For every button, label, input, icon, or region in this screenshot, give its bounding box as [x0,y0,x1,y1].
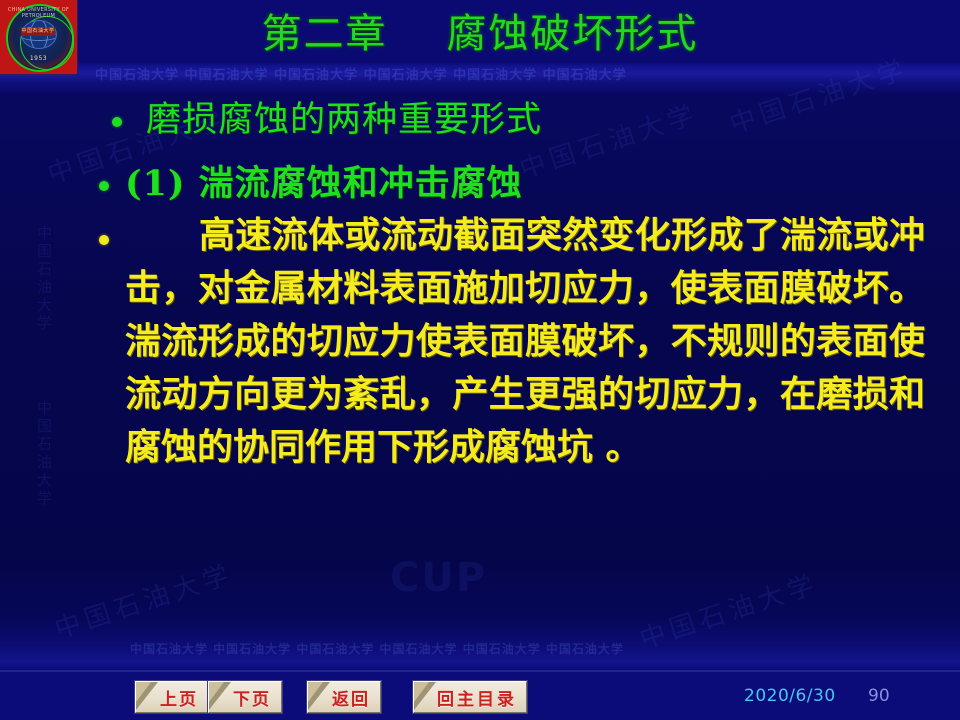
paragraph-3-text: 高速流体或流动截面突然变化形成了湍流或冲击，对金属材料表面施加切应力，使表面膜破… [125,209,925,474]
next-page-button-label: 下页 [209,682,281,712]
slide-page-number: 90 [868,686,890,706]
watermark-vertical-left-2: 中国石油大学 [34,400,55,508]
watermark-logo-text: CUP [390,555,487,601]
paragraph-1-text: 磨损腐蚀的两种重要形式 [146,95,542,145]
prev-page-button[interactable]: 上页 [135,681,209,713]
paragraph-2-text: (1) 湍流腐蚀和冲击腐蚀 [125,157,523,211]
home-button[interactable]: 回主目录 [413,681,527,713]
bullet-paragraph-2: (1) 湍流腐蚀和冲击腐蚀 [0,157,960,215]
prev-page-button-label: 上页 [136,682,208,712]
page-title: 第二章 腐蚀破坏形式 [0,9,960,59]
next-page-button[interactable]: 下页 [208,681,282,713]
footer-bar: 上页 下页 返回 回主目录 2020/6/30 90 [0,672,960,720]
return-button-label: 返回 [308,682,380,712]
slide-canvas: 中国石油大学 中国石油大学 中国石油大学 中国石油大学 中国石油大学 中国石油大… [0,0,960,720]
watermark-diagonal-3: 中国石油大学 [49,553,237,646]
slide-body: 磨损腐蚀的两种重要形式 (1) 湍流腐蚀和冲击腐蚀 高速流体或流动截面突然变化形… [0,95,960,215]
home-button-label: 回主目录 [414,682,526,712]
watermark-diagonal-4: 中国石油大学 [634,563,822,656]
slide-date: 2020/6/30 [744,686,836,706]
return-button[interactable]: 返回 [307,681,381,713]
bullet-icon-green-1 [112,117,122,127]
watermark-vertical-left: 中国石油大学 [34,225,55,333]
watermark-band-bottom: 中国石油大学 中国石油大学 中国石油大学 中国石油大学 中国石油大学 中国石油大… [130,640,624,657]
bullet-paragraph-1: 磨损腐蚀的两种重要形式 [0,95,960,157]
bullet-icon-yellow [99,235,109,245]
bullet-icon-green-2 [99,181,109,191]
watermark-band-top: 中国石油大学 中国石油大学 中国石油大学 中国石油大学 中国石油大学 中国石油大… [95,64,627,83]
